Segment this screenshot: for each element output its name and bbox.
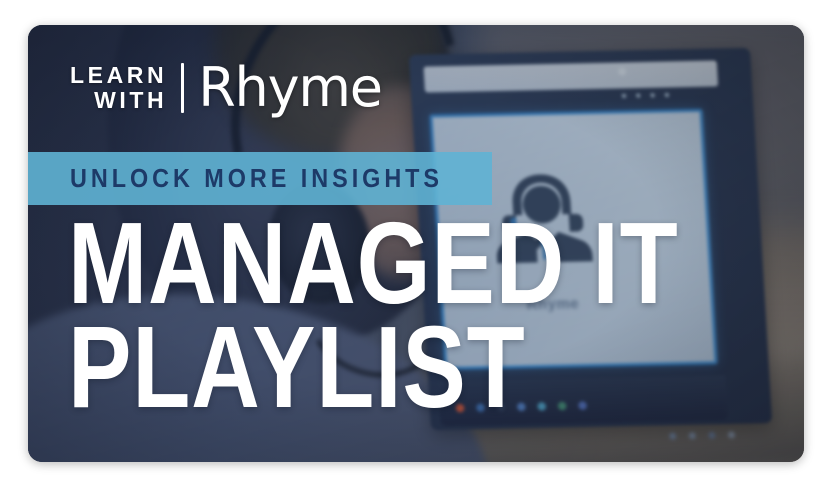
headline: MANAGED IT PLAYLIST <box>68 211 679 419</box>
promo-card[interactable]: Rhyme LEARN WITH Rhyme UNLOCK MORE INSI <box>28 25 804 462</box>
rhyme-wordmark: Rhyme <box>198 61 382 115</box>
eyebrow-label: UNLOCK MORE INSIGHTS <box>70 163 443 194</box>
logo-divider <box>181 63 184 113</box>
learn-with-rhyme-logo: LEARN WITH Rhyme <box>70 61 382 115</box>
screenshot-stage: Rhyme LEARN WITH Rhyme UNLOCK MORE INSI <box>0 0 836 496</box>
card-content: LEARN WITH Rhyme UNLOCK MORE INSIGHTS MA… <box>28 25 804 462</box>
headline-line-1: MANAGED IT <box>68 211 679 315</box>
logo-learn-with-text: LEARN WITH <box>70 63 167 113</box>
headline-line-2: PLAYLIST <box>68 315 679 419</box>
logo-line-with: WITH <box>70 88 167 113</box>
logo-line-learn: LEARN <box>70 63 167 88</box>
